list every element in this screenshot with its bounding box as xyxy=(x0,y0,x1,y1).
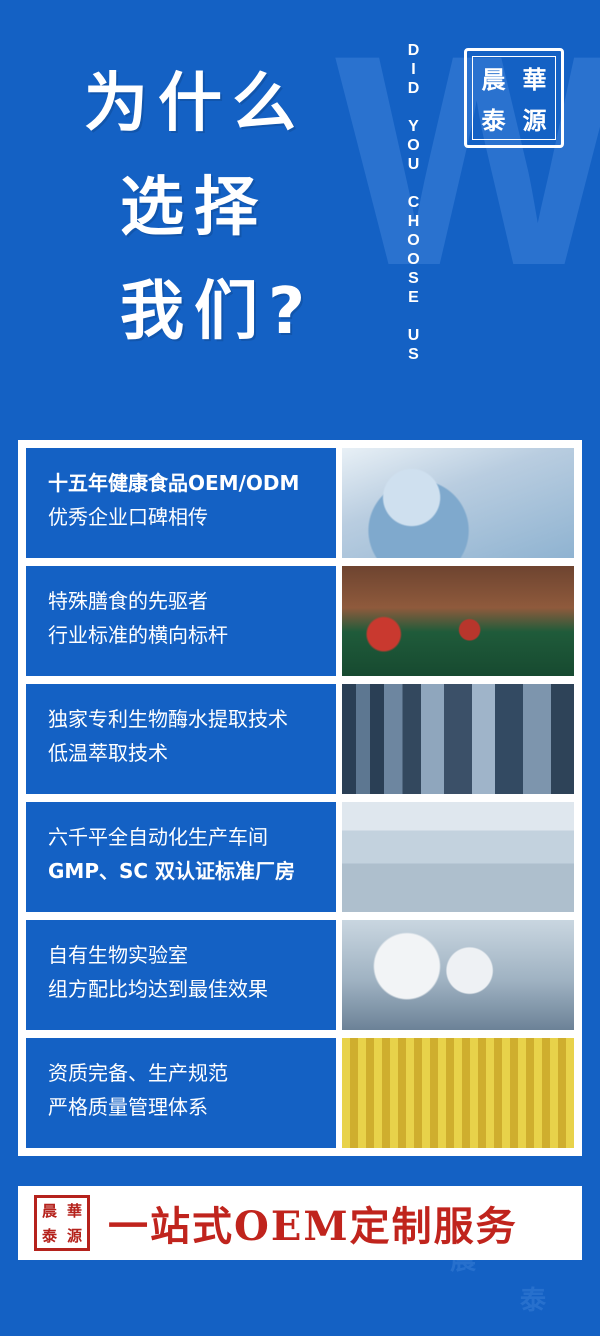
footer-seal-char-2: 華 xyxy=(62,1198,87,1223)
footer-seal-char-4: 源 xyxy=(62,1223,87,1248)
brand-seal-logo: 晨 華 泰 源 xyxy=(464,48,564,148)
feature-text-block: 六千平全自动化生产车间GMP、SC 双认证标准厂房 xyxy=(26,802,336,912)
footer-seal-logo: 晨 華 泰 源 xyxy=(34,1195,90,1251)
feature-line-1: 独家专利生物酶水提取技术 xyxy=(48,702,320,736)
watermark-char: 泰 xyxy=(520,1280,546,1317)
feature-text-block: 独家专利生物酶水提取技术低温萃取技术 xyxy=(26,684,336,794)
feature-row: 十五年健康食品OEM/ODM优秀企业口碑相传 xyxy=(26,448,574,558)
footer-seal-char-1: 晨 xyxy=(37,1198,62,1223)
footer-seal-char-3: 泰 xyxy=(37,1223,62,1248)
laboratory-staff-photo xyxy=(342,920,574,1030)
feature-line-2: 行业标准的横向标杆 xyxy=(48,618,320,652)
feature-row: 特殊膳食的先驱者行业标准的横向标杆 xyxy=(26,566,574,676)
feature-line-2: 低温萃取技术 xyxy=(48,736,320,770)
feature-line-1: 资质完备、生产规范 xyxy=(48,1056,320,1090)
feature-text-block: 资质完备、生产规范严格质量管理体系 xyxy=(26,1038,336,1148)
lab-technician-photo xyxy=(342,448,574,558)
filling-machine-photo xyxy=(342,684,574,794)
feature-row: 六千平全自动化生产车间GMP、SC 双认证标准厂房 xyxy=(26,802,574,912)
feature-line-2: 组方配比均达到最佳效果 xyxy=(48,972,320,1006)
title-line-3: 我们? xyxy=(120,260,315,364)
feature-text-block: 十五年健康食品OEM/ODM优秀企业口碑相传 xyxy=(26,448,336,558)
feature-row: 资质完备、生产规范严格质量管理体系 xyxy=(26,1038,574,1148)
feature-list-panel: 十五年健康食品OEM/ODM优秀企业口碑相传特殊膳食的先驱者行业标准的横向标杆独… xyxy=(18,440,582,1156)
cleanroom-workshop-photo xyxy=(342,802,574,912)
seal-char-2: 華 xyxy=(514,57,555,98)
feature-line-1: 自有生物实验室 xyxy=(48,938,320,972)
seal-char-4: 源 xyxy=(514,98,555,139)
feature-line-2: GMP、SC 双认证标准厂房 xyxy=(48,854,320,888)
title-line-2: 选择 xyxy=(120,156,315,260)
seal-char-1: 晨 xyxy=(473,57,514,98)
feature-line-2: 优秀企业口碑相传 xyxy=(48,500,320,534)
feature-line-2: 严格质量管理体系 xyxy=(48,1090,320,1124)
feature-text-block: 自有生物实验室组方配比均达到最佳效果 xyxy=(26,920,336,1030)
title-line-1: 为什么 xyxy=(84,52,315,156)
feature-text-block: 特殊膳食的先驱者行业标准的横向标杆 xyxy=(26,566,336,676)
vertical-english-subtitle: DID YOU CHOOSE US xyxy=(400,42,426,392)
page-title: 为什么 选择 我们? xyxy=(84,52,315,364)
feature-row: 自有生物实验室组方配比均达到最佳效果 xyxy=(26,920,574,1030)
tablet-production-line-photo xyxy=(342,1038,574,1148)
feature-line-1: 特殊膳食的先驱者 xyxy=(48,584,320,618)
footer-slogan: 一站式OEM定制服务 xyxy=(108,1194,518,1252)
feature-line-1: 十五年健康食品OEM/ODM xyxy=(48,466,320,500)
feature-line-1: 六千平全自动化生产车间 xyxy=(48,820,320,854)
seal-char-3: 泰 xyxy=(473,98,514,139)
feature-row: 独家专利生物酶水提取技术低温萃取技术 xyxy=(26,684,574,794)
footer-banner: 晨 華 泰 源 一站式OEM定制服务 xyxy=(18,1186,582,1260)
seal-characters: 晨 華 泰 源 xyxy=(472,56,556,140)
conference-audience-photo xyxy=(342,566,574,676)
